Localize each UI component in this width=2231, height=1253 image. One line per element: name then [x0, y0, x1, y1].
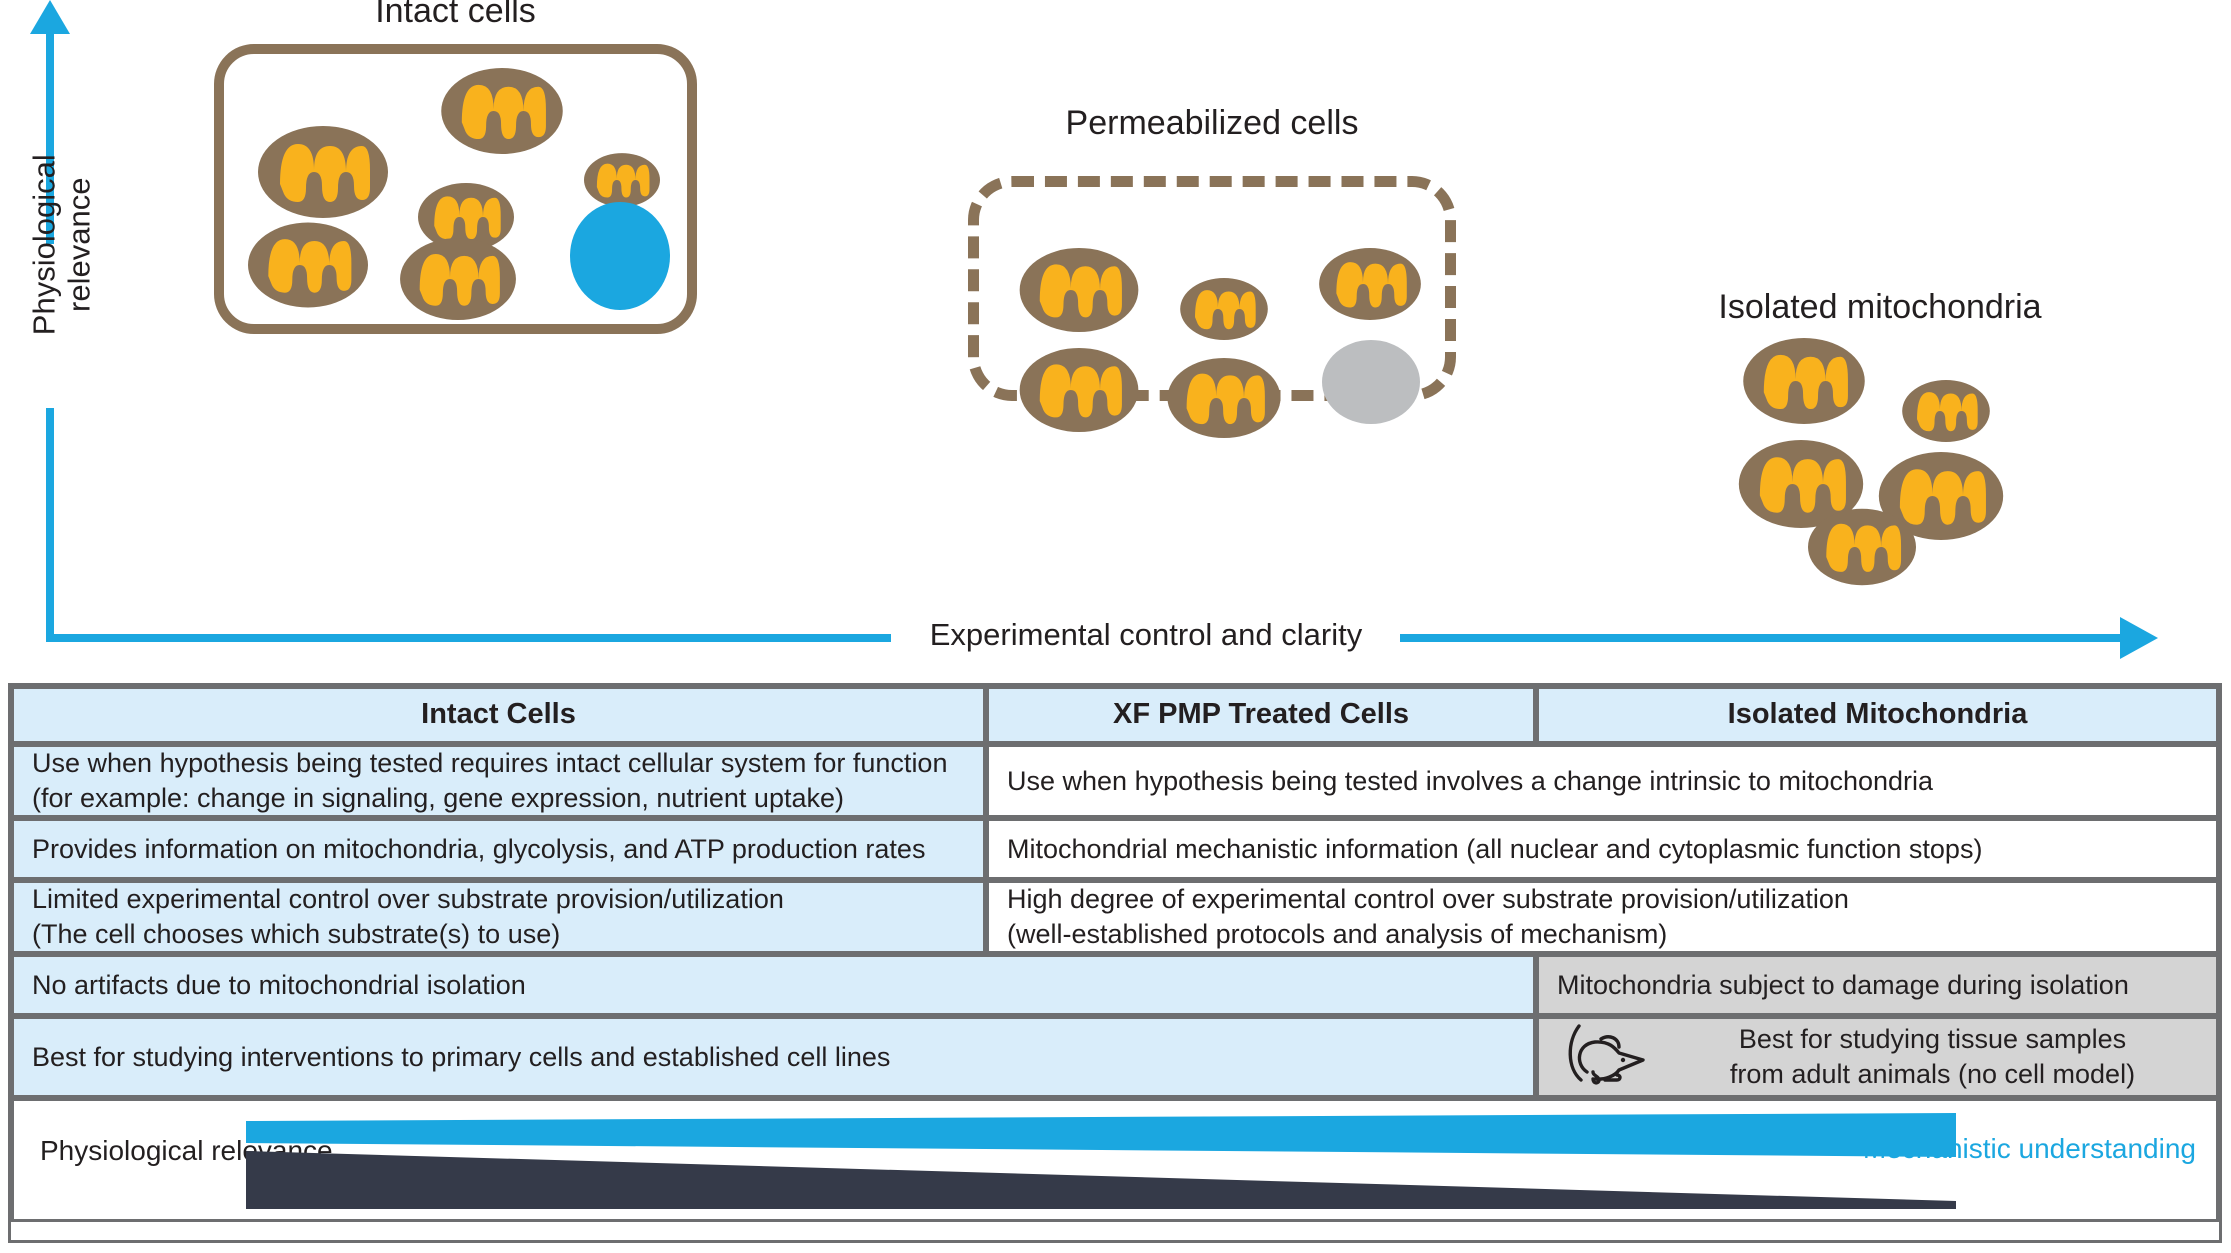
cell-intact-provides-info: Provides information on mitochondria, gl…: [11, 818, 986, 880]
mitochondrion: [441, 68, 563, 154]
x-axis-arrowhead-icon: [2120, 617, 2158, 659]
x-axis-line-left: [46, 634, 891, 642]
cell-intact-limited-control: Limited experimental control over substr…: [11, 880, 986, 954]
cell-mito-damage: Mitochondria subject to damage during is…: [1536, 954, 2219, 1016]
cell-text: Best for studying tissue samplesfrom adu…: [1667, 1022, 2198, 1091]
y-axis-line-lower: [46, 408, 54, 638]
cell-text: Use when hypothesis being tested require…: [32, 746, 947, 815]
table-row: No artifacts due to mitochondrial isolat…: [11, 954, 2219, 1016]
cell-mito-mechanistic-info: Mitochondrial mechanistic information (a…: [986, 818, 2219, 880]
cell-intact-use-when: Use when hypothesis being tested require…: [11, 744, 986, 818]
column-header-xf-pmp-treated-cells: XF PMP Treated Cells: [986, 686, 1536, 744]
cell-mito-high-control: High degree of experimental control over…: [986, 880, 2219, 954]
relevance-gradient-band: Physiological relevance Mechanistic unde…: [11, 1098, 2219, 1222]
cell-text: Mitochondrial mechanistic information (a…: [1007, 832, 1982, 867]
table-row: Best for studying interventions to prima…: [11, 1016, 2219, 1098]
cell-text: Limited experimental control over substr…: [32, 882, 784, 951]
mitochondrion: [1808, 508, 1916, 586]
cell-text: No artifacts due to mitochondrial isolat…: [32, 968, 526, 1003]
cell-no-artifacts: No artifacts due to mitochondrial isolat…: [11, 954, 1536, 1016]
mitochondrion: [1018, 348, 1140, 432]
table-gradient-row: Physiological relevance Mechanistic unde…: [11, 1098, 2219, 1222]
nucleus-intact: [570, 202, 670, 310]
table-header-row: Intact Cells XF PMP Treated Cells Isolat…: [11, 686, 2219, 744]
table-row: Limited experimental control over substr…: [11, 880, 2219, 954]
concept-diagram: Physiological relevance Experimental con…: [0, 0, 2231, 660]
mitochondrion: [1742, 338, 1866, 424]
y-axis-label: Physiological relevance: [27, 125, 96, 365]
panel-title-permeabilized-cells: Permeabilized cells: [968, 104, 1456, 143]
column-header-isolated-mitochondria: Isolated Mitochondria: [1536, 686, 2219, 744]
mitochondrion: [1180, 278, 1268, 340]
mitochondrion: [258, 126, 388, 218]
x-axis-label: Experimental control and clarity: [890, 617, 1402, 653]
comparison-table: Intact Cells XF PMP Treated Cells Isolat…: [8, 683, 2222, 1243]
cell-text: Provides information on mitochondria, gl…: [32, 832, 925, 867]
cell-text: Use when hypothesis being tested involve…: [1007, 764, 1933, 799]
column-header-intact-cells: Intact Cells: [11, 686, 986, 744]
cell-text: Mitochondria subject to damage during is…: [1557, 968, 2129, 1003]
table-row: Provides information on mitochondria, gl…: [11, 818, 2219, 880]
panel-title-intact-cells: Intact cells: [214, 0, 697, 31]
mitochondrion: [584, 152, 660, 208]
mitochondrion: [1166, 358, 1282, 438]
cell-text: High degree of experimental control over…: [1007, 882, 1849, 951]
mouse-icon: [1565, 1020, 1651, 1095]
cell-mito-use-when: Use when hypothesis being tested involve…: [986, 744, 2219, 818]
nucleus-permeabilized: [1322, 340, 1420, 424]
cell-best-for-primary-cells: Best for studying interventions to prima…: [11, 1016, 1536, 1098]
gradient-wedges: [246, 1109, 1956, 1217]
mitochondrion: [1018, 248, 1140, 332]
mitochondrion: [400, 238, 516, 320]
table-row: Use when hypothesis being tested require…: [11, 744, 2219, 818]
x-axis-line-right: [1400, 634, 2125, 642]
mitochondrion: [248, 222, 368, 308]
cell-best-for-tissue-samples: Best for studying tissue samplesfrom adu…: [1536, 1016, 2219, 1098]
panel-title-isolated-mitochondria: Isolated mitochondria: [1640, 288, 2120, 327]
mitochondrion: [1318, 248, 1422, 320]
mitochondrion: [1900, 380, 1992, 442]
cell-text: Best for studying interventions to prima…: [32, 1040, 890, 1075]
